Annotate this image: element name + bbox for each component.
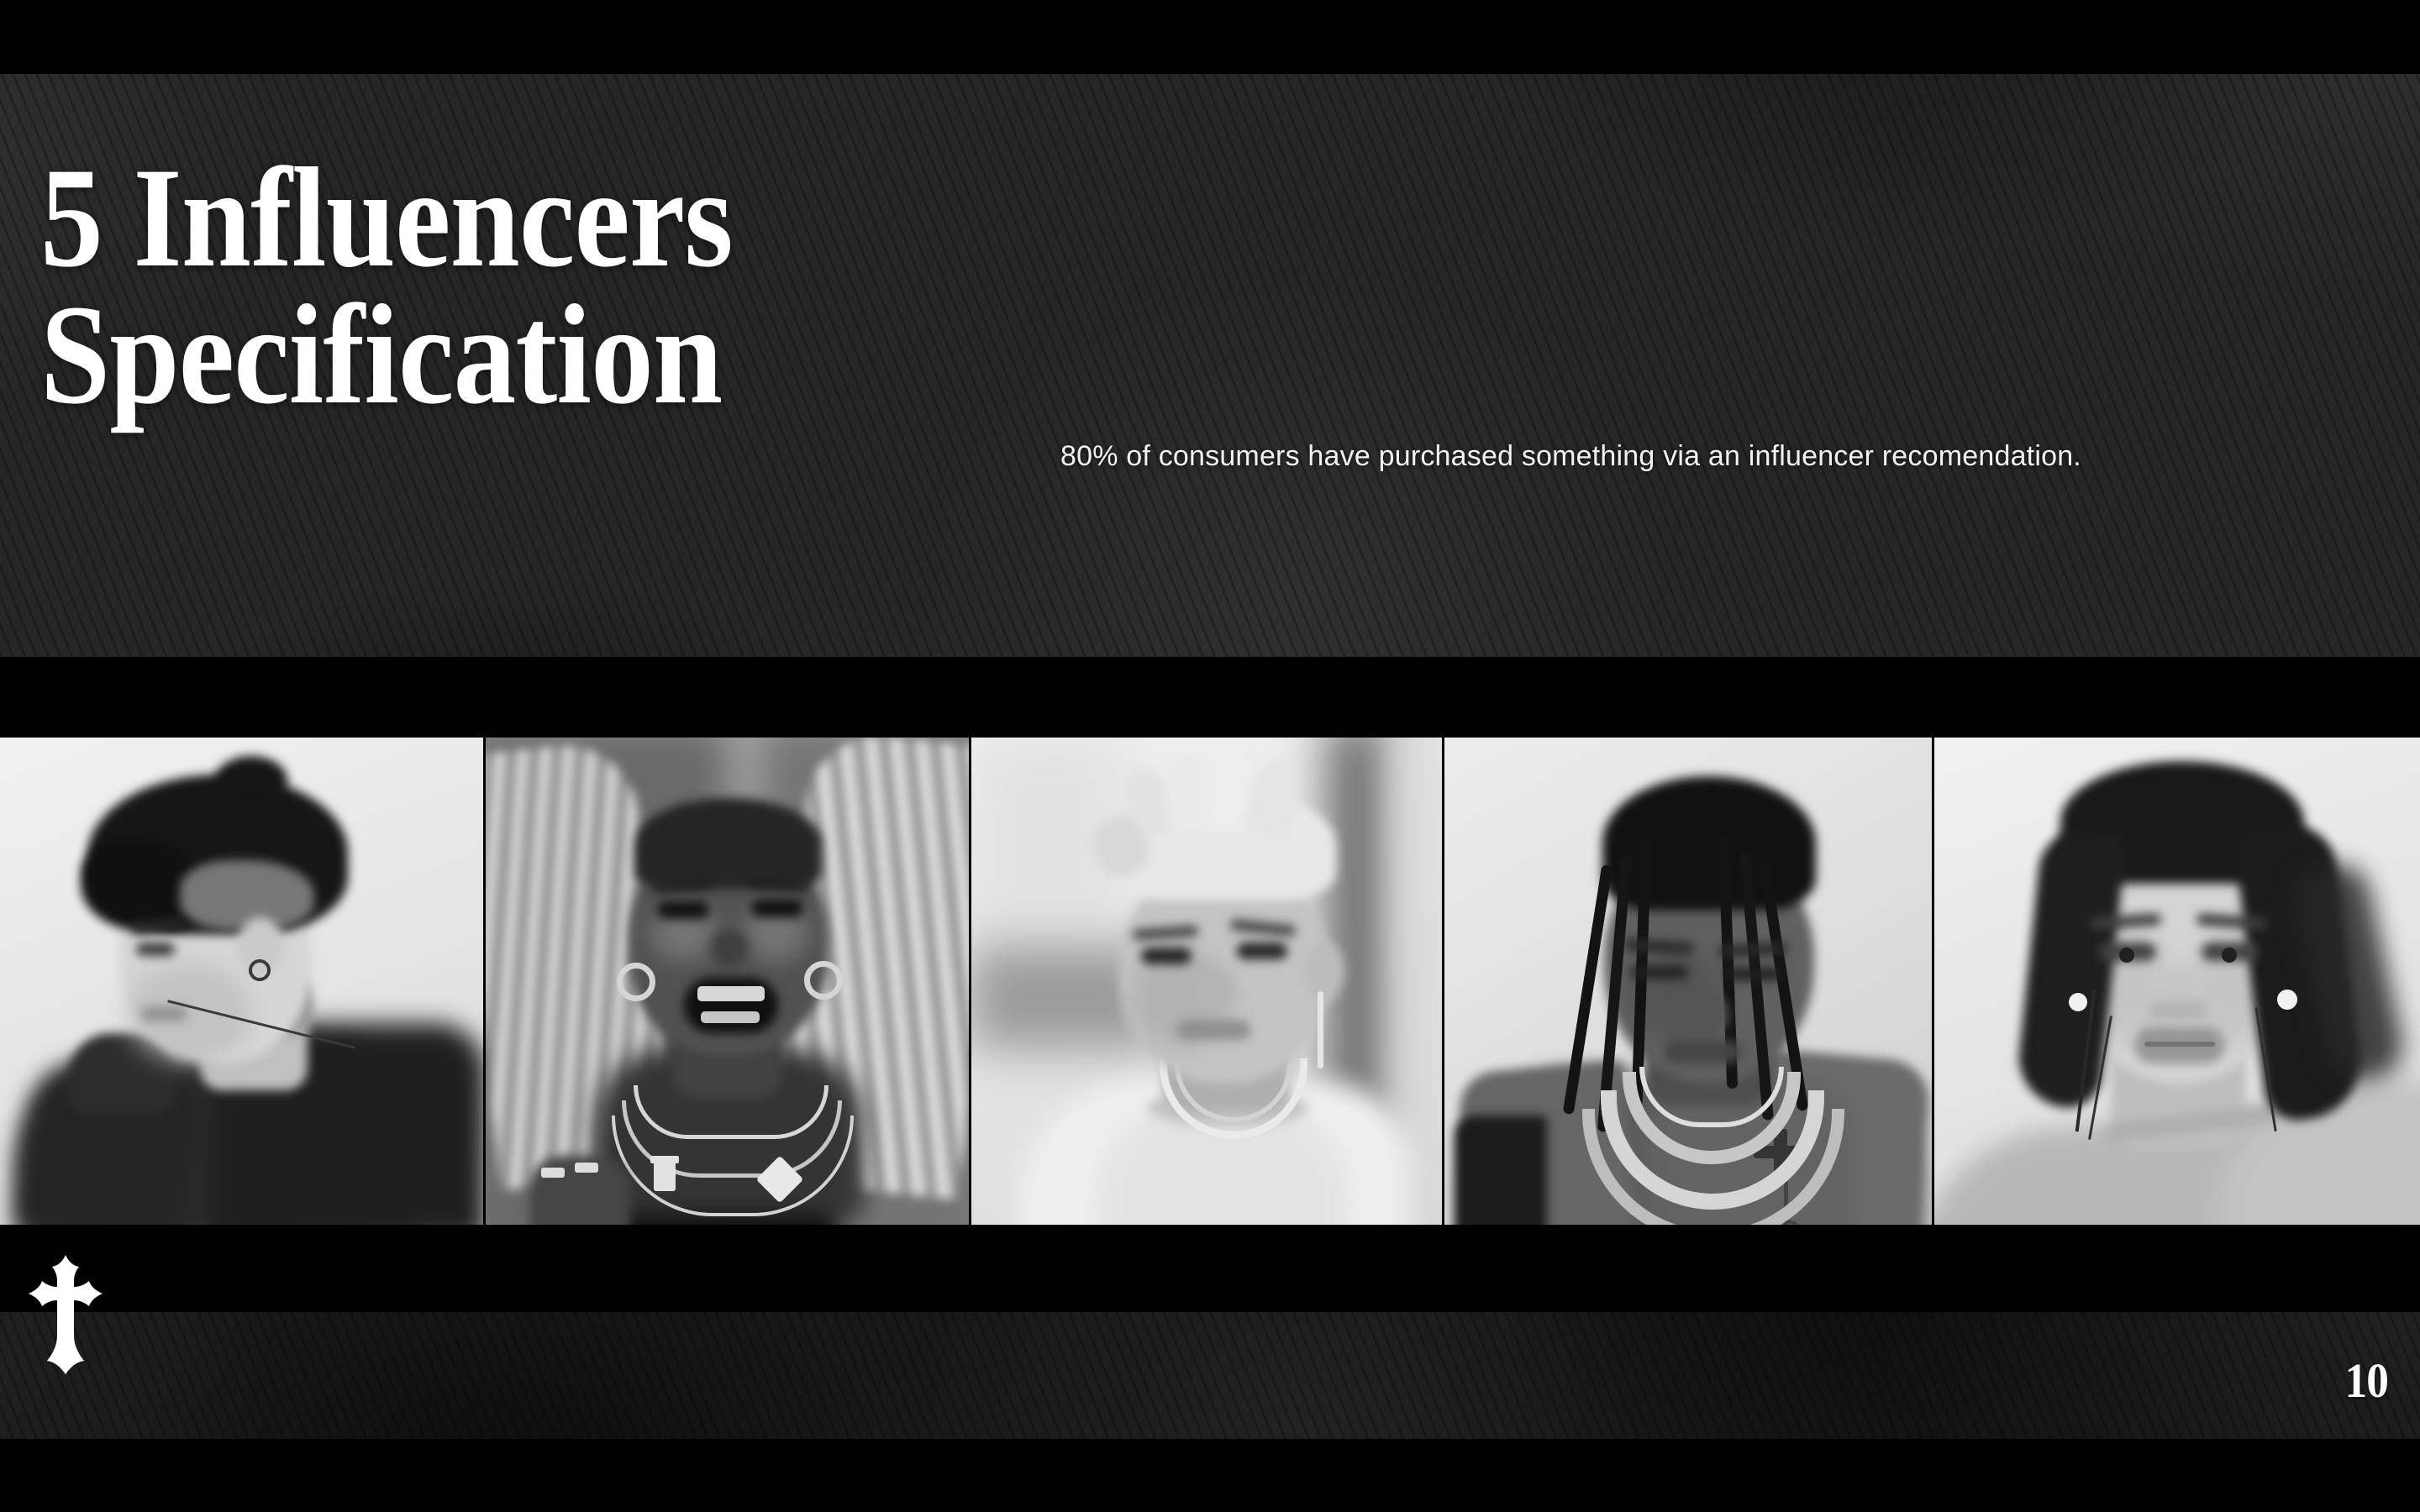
influencer-photo-5 [1934, 738, 2420, 1225]
list-item[interactable] [1444, 738, 1932, 1225]
list-item[interactable] [0, 738, 483, 1225]
bottom-black-band [0, 1439, 2420, 1512]
list-item[interactable] [486, 738, 969, 1225]
influencer-photo-1 [0, 738, 483, 1225]
influencer-photo-2 [486, 738, 969, 1225]
gothic-cross-logo[interactable] [25, 1255, 106, 1381]
footer-panel [0, 1312, 2420, 1439]
hero-panel [0, 74, 2420, 657]
page-number: 10 [2344, 1357, 2388, 1405]
presentation-slide: 5 Influencers Specification 80% of consu… [0, 0, 2420, 1512]
list-item[interactable] [971, 738, 1442, 1225]
lower-black-band [0, 1225, 2420, 1312]
influencer-photo-4 [1444, 738, 1932, 1225]
influencer-photo-3 [971, 738, 1442, 1225]
mid-black-band [0, 657, 2420, 738]
influencer-photo-strip [0, 738, 2420, 1225]
list-item[interactable] [1934, 738, 2420, 1225]
top-black-band [0, 0, 2420, 74]
